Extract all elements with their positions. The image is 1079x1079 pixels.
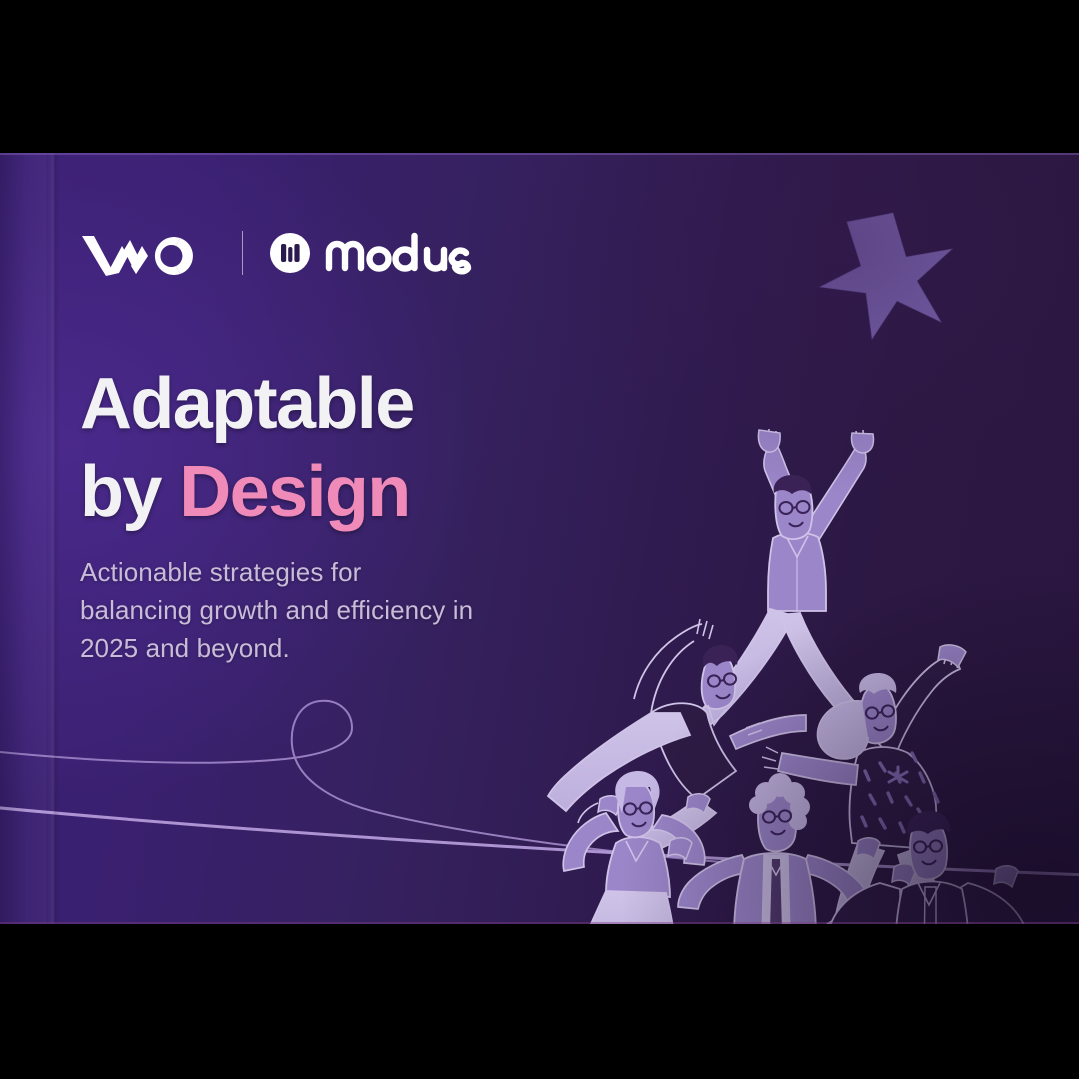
tightrope-line: [0, 807, 1079, 875]
cover-subtitle: Actionable strategies for balancing grow…: [80, 553, 480, 668]
figure-base-right: [827, 811, 1031, 924]
title-line-2-accent: Design: [179, 452, 409, 532]
modus-circle-mark: [269, 232, 311, 274]
star-icon: [820, 213, 952, 339]
vwo-logo: [80, 228, 212, 278]
modus-lockup: [269, 230, 473, 276]
title-line-1: Adaptable: [80, 364, 414, 444]
figure-mid-left: [548, 619, 806, 857]
title-line-2: by Design: [80, 449, 414, 537]
figure-mid-right: [762, 645, 966, 924]
brand-divider: [242, 231, 243, 275]
modus-wordmark: [323, 230, 473, 276]
figure-top-reaching: [674, 429, 885, 736]
figure-base-center: [668, 773, 880, 924]
cover-bottom-edge: [0, 922, 1079, 924]
book-cover: Adaptable by Design Actionable strategie…: [0, 153, 1079, 924]
cover-title: Adaptable by Design: [80, 361, 414, 537]
cover-top-edge: [0, 153, 1079, 155]
screenshot-canvas: Adaptable by Design Actionable strategie…: [0, 0, 1079, 1079]
brand-lockup: [80, 225, 473, 281]
book-spine-edge: [0, 153, 46, 924]
book-spine-hinge: [44, 153, 60, 924]
looping-thread: [0, 701, 760, 865]
title-line-2-prefix: by: [80, 452, 179, 532]
figure-base-left: [527, 771, 710, 924]
